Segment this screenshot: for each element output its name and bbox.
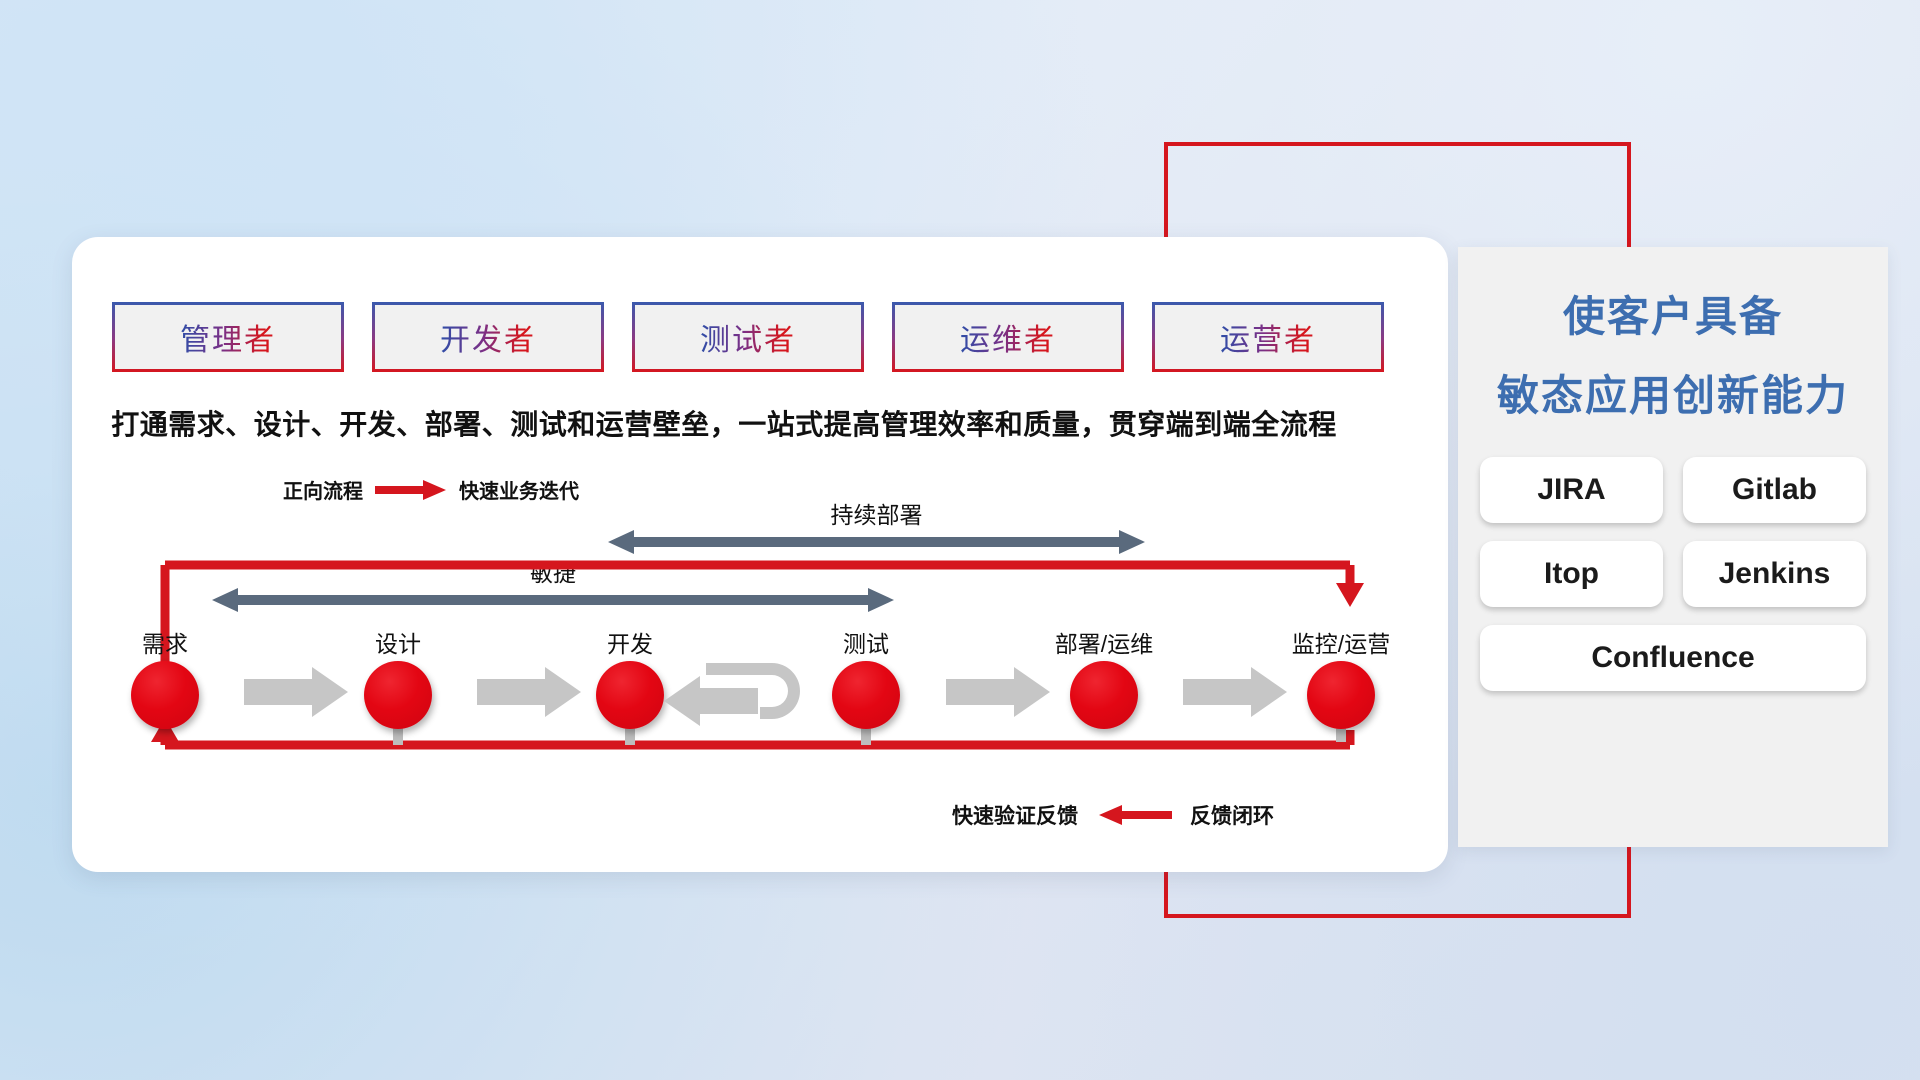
pipeline-step-arrows — [0, 0, 1448, 760]
panel-heading-line1: 使客户具备 — [1458, 283, 1888, 344]
legend-feedback-loop: 快速验证反馈 反馈闭环 — [952, 800, 1274, 830]
arrow-left-red-icon — [1096, 804, 1172, 826]
panel-heading-line2: 敏态应用创新能力 — [1458, 362, 1888, 423]
role-box-inner: 运维者 — [895, 305, 1121, 369]
loopback-arrow-icon — [664, 645, 816, 726]
role-box-operations[interactable]: 运营者 — [1152, 302, 1384, 372]
tool-chip-confluence[interactable]: Confluence — [1480, 625, 1866, 691]
role-box-row: 管理者 开发者 测试者 运维者 运营者 — [112, 302, 1384, 372]
role-box-inner: 管理者 — [115, 305, 341, 369]
role-box-developer[interactable]: 开发者 — [372, 302, 604, 372]
role-label: 测试者 — [700, 315, 796, 359]
tool-chip-jenkins[interactable]: Jenkins — [1683, 541, 1866, 607]
role-label: 运营者 — [1220, 315, 1316, 359]
role-box-inner: 开发者 — [375, 305, 601, 369]
role-box-inner: 测试者 — [635, 305, 861, 369]
role-box-inner: 运营者 — [1155, 305, 1381, 369]
role-box-ops[interactable]: 运维者 — [892, 302, 1124, 372]
value-proposition-panel: 使客户具备 敏态应用创新能力 JIRA Gitlab Itop Jenkins … — [1458, 247, 1888, 847]
tool-chip-gitlab[interactable]: Gitlab — [1683, 457, 1866, 523]
role-label: 开发者 — [440, 315, 536, 359]
role-label: 运维者 — [960, 315, 1056, 359]
panel-heading: 使客户具备 敏态应用创新能力 — [1458, 283, 1888, 423]
role-box-manager[interactable]: 管理者 — [112, 302, 344, 372]
slide-canvas: 管理者 开发者 测试者 运维者 运营者 打通需求、设计、开发、部署、测试和运营壁… — [0, 0, 1920, 1080]
legend-feedback-right-label: 反馈闭环 — [1190, 800, 1274, 830]
legend-feedback-left-label: 快速验证反馈 — [952, 800, 1078, 830]
role-label: 管理者 — [180, 315, 276, 359]
tool-chip-jira[interactable]: JIRA — [1480, 457, 1663, 523]
tool-chip-grid: JIRA Gitlab Itop Jenkins Confluence — [1480, 457, 1866, 691]
tool-chip-itop[interactable]: Itop — [1480, 541, 1663, 607]
role-box-tester[interactable]: 测试者 — [632, 302, 864, 372]
